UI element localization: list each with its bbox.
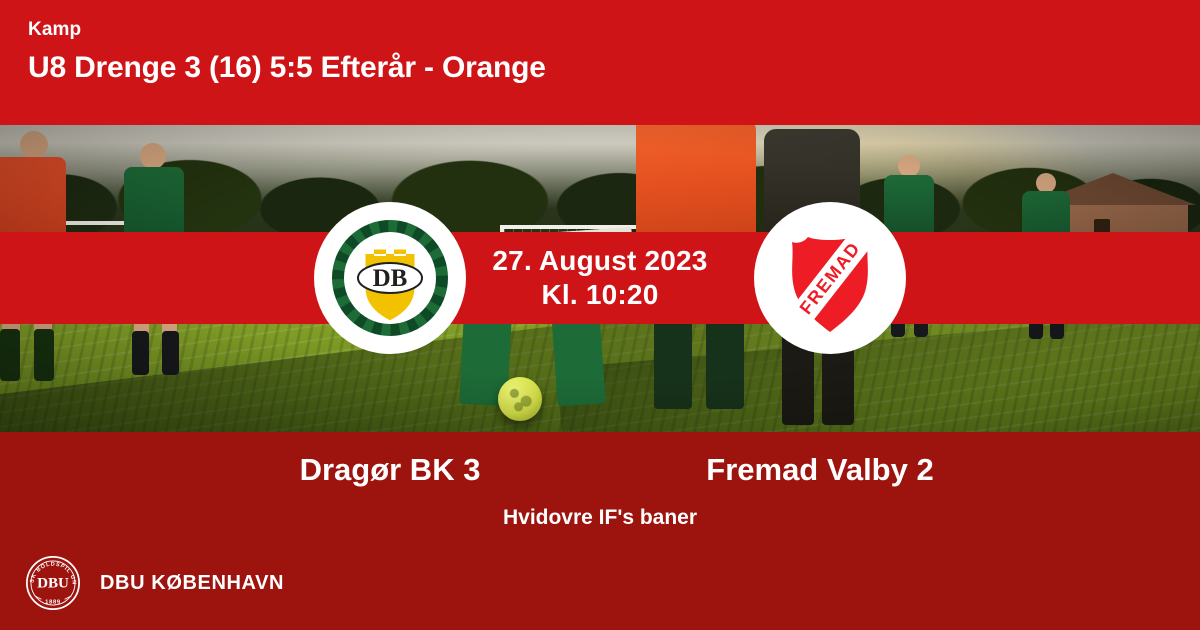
home-club-crest: DB — [314, 202, 466, 354]
venue-name: Hvidovre IF's baner — [0, 504, 1200, 532]
team-names-row: Dragør BK 3 Fremad Valby 2 — [0, 448, 1200, 492]
match-graphic-card: Kamp U8 Drenge 3 (16) 5:5 Efterår - Oran… — [0, 0, 1200, 630]
header-kicker: Kamp — [28, 18, 1200, 42]
match-time: Kl. 10:20 — [492, 278, 707, 312]
page-title: U8 Drenge 3 (16) 5:5 Efterår - Orange — [28, 46, 1200, 90]
brand-row: DANSK BOLDSPIL UNION DBU 1889 DBU KØBENH… — [24, 554, 284, 612]
footer-bar: Dragør BK 3 Fremad Valby 2 Hvidovre IF's… — [0, 432, 1200, 630]
away-club-crest: FREMAD — [754, 202, 906, 354]
home-crest-monogram: DB — [373, 265, 408, 292]
header-bar: Kamp U8 Drenge 3 (16) 5:5 Efterår - Oran… — [0, 0, 1200, 125]
dragoer-bk-logo-icon: DB — [326, 214, 454, 342]
dbu-badge-monogram: DBU — [37, 576, 69, 592]
date-time-band: 27. August 2023 Kl. 10:20 — [0, 232, 1200, 324]
dbu-badge-year: 1889 — [45, 599, 61, 605]
organisation-name: DBU KØBENHAVN — [100, 572, 284, 595]
match-date: 27. August 2023 — [492, 244, 707, 278]
fremad-valby-logo-icon: FREMAD — [766, 214, 894, 342]
home-team-name: Dragør BK 3 — [230, 448, 550, 492]
dbu-badge-icon: DANSK BOLDSPIL UNION DBU 1889 — [24, 554, 82, 612]
away-team-name: Fremad Valby 2 — [660, 448, 980, 492]
